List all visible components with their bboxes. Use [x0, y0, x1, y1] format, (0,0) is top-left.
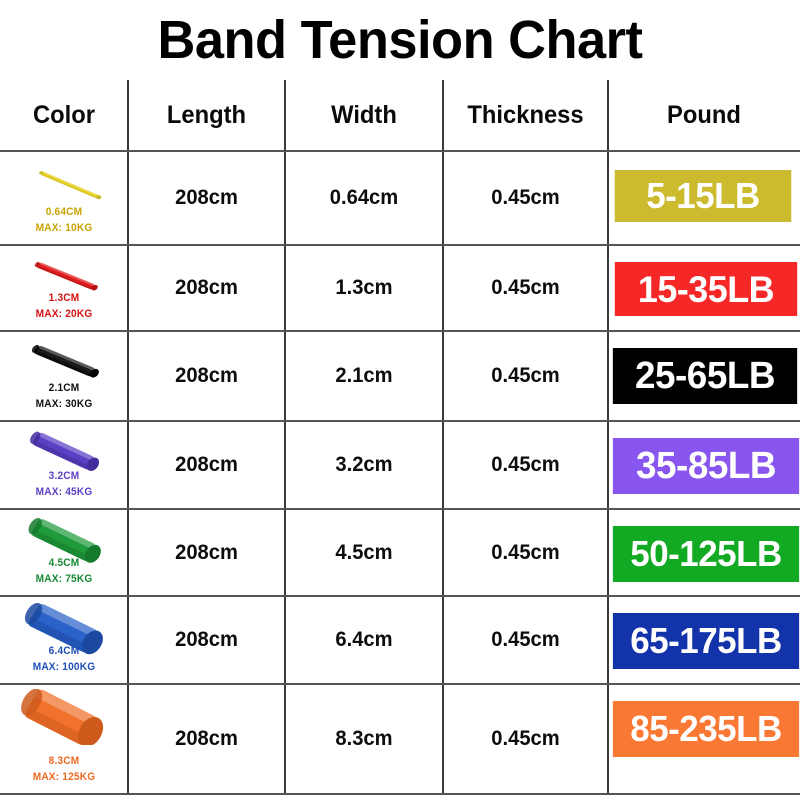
band-width-label: 2.1CM	[11, 382, 118, 394]
cell-width: 4.5cm	[288, 510, 440, 595]
pound-badge-blue: 65-175LB	[613, 613, 799, 669]
pound-badge-yellow: 5-15LB	[615, 170, 792, 222]
column-header-color: Color	[3, 80, 125, 150]
band-max-load-label: MAX: 30KG	[11, 398, 118, 410]
cell-thickness: 0.45cm	[446, 152, 604, 244]
cell-length: 208cm	[131, 685, 282, 793]
band-max-load-label: MAX: 75KG	[11, 573, 118, 585]
band-width-label: 8.3CM	[11, 755, 118, 767]
cell-width: 0.64cm	[288, 152, 440, 244]
page-title: Band Tension Chart	[12, 8, 788, 72]
band-width-label: 6.4CM	[11, 645, 118, 657]
band-max-load-label: MAX: 45KG	[11, 486, 118, 498]
cell-width: 6.4cm	[288, 597, 440, 683]
cell-color-orange: 8.3CMMAX: 125KG	[0, 685, 128, 793]
cell-thickness: 0.45cm	[446, 685, 604, 793]
cell-width: 8.3cm	[288, 685, 440, 793]
band-graphic	[16, 338, 114, 384]
cell-color-purple: 3.2CMMAX: 45KG	[0, 422, 128, 508]
chart-table: Color Length Width Thickness Pound 0.64C…	[0, 80, 800, 794]
column-header-pound: Pound	[613, 80, 795, 150]
band-width-label: 3.2CM	[11, 470, 118, 482]
band-graphic	[16, 426, 112, 476]
row-divider-7	[0, 793, 800, 795]
band-width-label: 1.3CM	[11, 292, 118, 304]
pound-badge-red: 15-35LB	[615, 262, 797, 316]
band-max-load-label: MAX: 20KG	[11, 308, 118, 320]
table-row: 0.64CMMAX: 10KG208cm0.64cm0.45cm5-15LB	[0, 152, 800, 244]
cell-width: 1.3cm	[288, 246, 440, 330]
band-max-load-label: MAX: 100KG	[11, 661, 118, 673]
cell-thickness: 0.45cm	[446, 597, 604, 683]
cell-width: 2.1cm	[288, 332, 440, 420]
cell-thickness: 0.45cm	[446, 422, 604, 508]
band-graphic	[12, 689, 110, 745]
column-header-thickness: Thickness	[447, 80, 604, 150]
cell-thickness: 0.45cm	[446, 246, 604, 330]
band-thumbnail-black	[16, 338, 114, 384]
cell-color-red: 1.3CMMAX: 20KG	[0, 246, 128, 330]
cell-length: 208cm	[131, 422, 282, 508]
pound-badge-black: 25-65LB	[613, 348, 797, 404]
pound-badge-purple: 35-85LB	[613, 438, 799, 494]
band-max-load-label: MAX: 10KG	[11, 222, 118, 234]
column-header-length: Length	[132, 80, 281, 150]
cell-width: 3.2cm	[288, 422, 440, 508]
table-row: 8.3CMMAX: 125KG208cm8.3cm0.45cm85-235LB	[0, 685, 800, 793]
cell-length: 208cm	[131, 332, 282, 420]
table-row: 4.5CMMAX: 75KG208cm4.5cm0.45cm50-125LB	[0, 510, 800, 595]
cell-thickness: 0.45cm	[446, 510, 604, 595]
cell-color-yellow: 0.64CMMAX: 10KG	[0, 152, 128, 244]
table-row: 6.4CMMAX: 100KG208cm6.4cm0.45cm65-175LB	[0, 597, 800, 683]
cell-color-black: 2.1CMMAX: 30KG	[0, 332, 128, 420]
table-row: 2.1CMMAX: 30KG208cm2.1cm0.45cm25-65LB	[0, 332, 800, 420]
band-width-label: 4.5CM	[11, 557, 118, 569]
band-tension-chart: Band Tension Chart Color Length Width Th…	[0, 0, 800, 800]
pound-badge-green: 50-125LB	[613, 526, 799, 582]
cell-length: 208cm	[131, 246, 282, 330]
band-max-load-label: MAX: 125KG	[11, 771, 118, 783]
cell-color-green: 4.5CMMAX: 75KG	[0, 510, 128, 595]
band-thumbnail-purple	[16, 426, 112, 476]
band-thumbnail-yellow	[22, 162, 118, 208]
table-row: 3.2CMMAX: 45KG208cm3.2cm0.45cm35-85LB	[0, 422, 800, 508]
cell-color-blue: 6.4CMMAX: 100KG	[0, 597, 128, 683]
cell-length: 208cm	[131, 510, 282, 595]
cell-length: 208cm	[131, 597, 282, 683]
band-graphic	[22, 162, 118, 208]
band-thumbnail-orange	[12, 689, 110, 745]
pound-badge-orange: 85-235LB	[613, 701, 799, 757]
table-row: 1.3CMMAX: 20KG208cm1.3cm0.45cm15-35LB	[0, 246, 800, 330]
cell-length: 208cm	[131, 152, 282, 244]
cell-thickness: 0.45cm	[446, 332, 604, 420]
column-header-width: Width	[289, 80, 439, 150]
band-width-label: 0.64CM	[11, 206, 118, 218]
